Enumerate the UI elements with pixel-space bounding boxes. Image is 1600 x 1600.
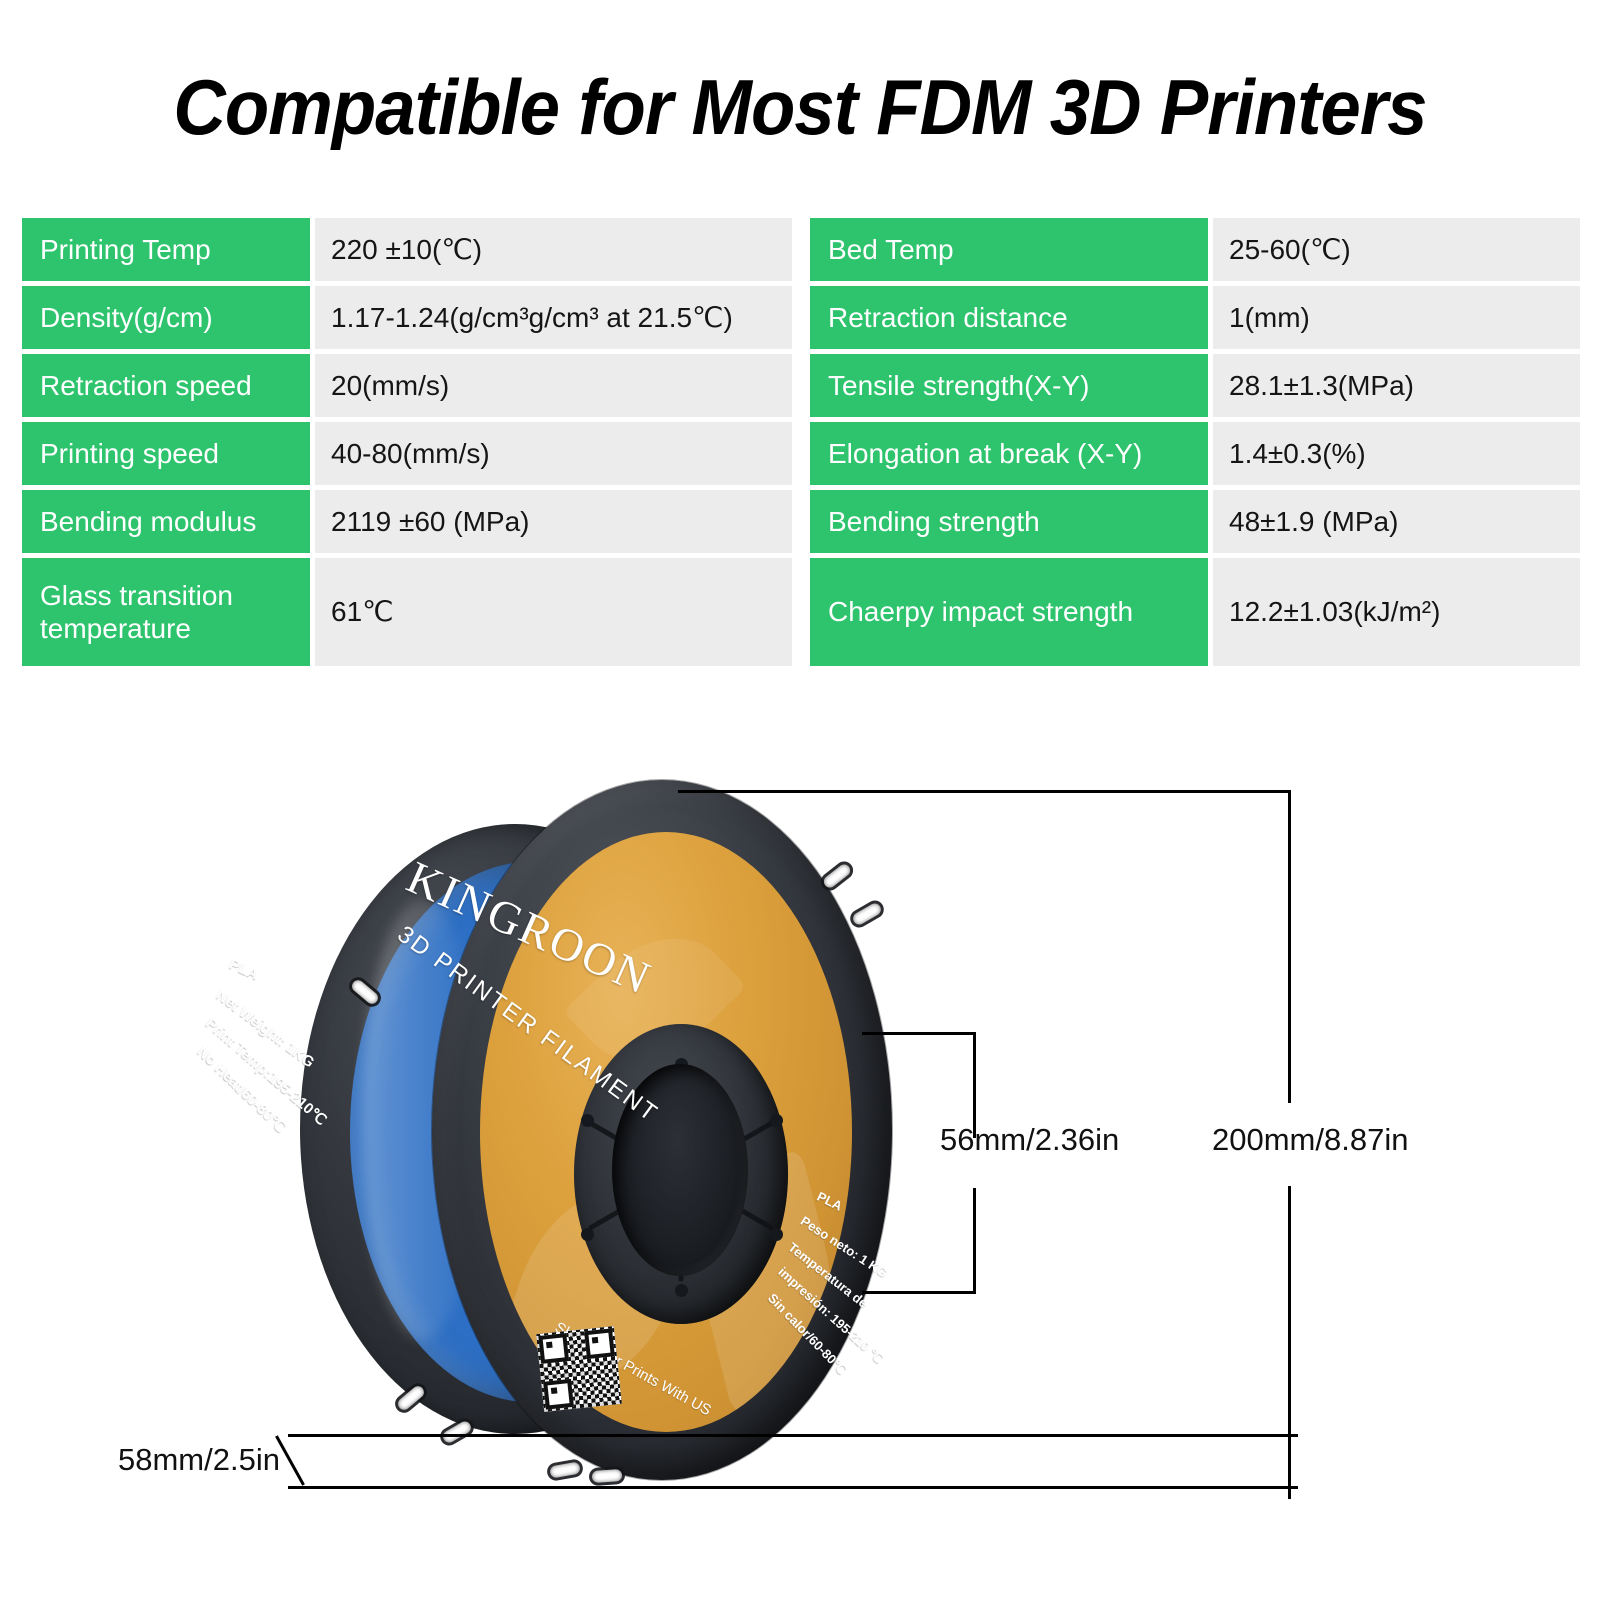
dimension-leader-width	[288, 1434, 1298, 1437]
spec-label: Elongation at break (X-Y)	[810, 422, 1208, 485]
spec-label: Bed Temp	[810, 218, 1208, 281]
label-material: PLA	[227, 956, 261, 984]
spec-value: 20(mm/s)	[315, 354, 792, 417]
hub-spoke-knob	[581, 1228, 594, 1241]
dimension-label-width: 58mm/2.5in	[118, 1442, 280, 1478]
rim-slot-icon	[821, 862, 852, 890]
table-row: Retraction distance 1(mm)	[810, 286, 1580, 349]
spec-value: 2119 ±60 (MPa)	[315, 490, 792, 553]
table-row: Retraction speed 20(mm/s)	[22, 354, 792, 417]
table-row: Printing Temp 220 ±10(℃)	[22, 218, 792, 281]
spec-value: 61℃	[315, 558, 792, 666]
qr-code	[536, 1326, 622, 1412]
spec-value: 25-60(℃)	[1213, 218, 1580, 281]
spec-value: 48±1.9 (MPa)	[1213, 490, 1580, 553]
spec-table-left: Printing Temp 220 ±10(℃) Density(g/cm) 1…	[22, 218, 792, 666]
dimension-label-inner-hole: 56mm/2.36in	[940, 1122, 1119, 1158]
table-row: Glass transition temperature 61℃	[22, 558, 792, 666]
spec-label: Bending strength	[810, 490, 1208, 553]
spec-label: Printing speed	[22, 422, 310, 485]
dimension-line-outer-diameter	[1288, 790, 1291, 1103]
dimension-line-inner-hole	[973, 1188, 976, 1294]
rim-slot-icon	[549, 1461, 581, 1478]
hub-spoke-knob	[770, 1228, 783, 1241]
spec-value: 28.1±1.3(MPa)	[1213, 354, 1580, 417]
spec-value: 12.2±1.03(kJ/m²)	[1213, 558, 1580, 666]
qr-eye-icon	[538, 1333, 569, 1364]
spec-label: Glass transition temperature	[22, 558, 310, 666]
table-row: Bending strength 48±1.9 (MPa)	[810, 490, 1580, 553]
hub-spoke-knob	[675, 1284, 688, 1297]
spec-table-right: Bed Temp 25-60(℃) Retraction distance 1(…	[810, 218, 1580, 666]
table-row: Density(g/cm) 1.17-1.24(g/cm³g/cm³ at 21…	[22, 286, 792, 349]
page-title: Compatible for Most FDM 3D Printers	[56, 62, 1544, 153]
dimension-line-outer-diameter	[1288, 1186, 1291, 1499]
spec-label: Bending modulus	[22, 490, 310, 553]
dimension-leader-inner-hole	[862, 1291, 976, 1294]
spec-label: Chaerpy impact strength	[810, 558, 1208, 666]
spec-label: Retraction distance	[810, 286, 1208, 349]
rim-slot-icon	[592, 1469, 623, 1483]
spec-value: 1(mm)	[1213, 286, 1580, 349]
spec-value: 1.17-1.24(g/cm³g/cm³ at 21.5℃)	[315, 286, 792, 349]
rim-slot-icon	[851, 901, 883, 926]
dimension-leader-top	[678, 790, 1290, 793]
qr-eye-icon	[543, 1379, 574, 1410]
table-row: Tensile strength(X-Y) 28.1±1.3(MPa)	[810, 354, 1580, 417]
dimension-leader-width	[288, 1486, 1298, 1489]
dimension-leader-inner-hole	[862, 1032, 976, 1035]
spec-label: Tensile strength(X-Y)	[810, 354, 1208, 417]
qr-eye-icon	[584, 1328, 615, 1359]
specification-tables: Printing Temp 220 ±10(℃) Density(g/cm) 1…	[22, 218, 1580, 666]
table-row: Printing speed 40-80(mm/s)	[22, 422, 792, 485]
rim-slot-icon	[441, 1419, 473, 1444]
dimension-label-outer-diameter: 200mm/8.87in	[1212, 1122, 1408, 1158]
spec-value: 1.4±0.3(%)	[1213, 422, 1580, 485]
product-photo: 200mm/8.87in 56mm/2.36in 58mm/2.5in KING…	[0, 740, 1600, 1560]
table-row: Chaerpy impact strength 12.2±1.03(kJ/m²)	[810, 558, 1580, 666]
hub-spoke-knob	[581, 1114, 594, 1127]
table-row: Elongation at break (X-Y) 1.4±0.3(%)	[810, 422, 1580, 485]
spec-value: 40-80(mm/s)	[315, 422, 792, 485]
spec-label: Retraction speed	[22, 354, 310, 417]
spec-label: Printing Temp	[22, 218, 310, 281]
hub-spoke-knob	[770, 1114, 783, 1127]
spec-label: Density(g/cm)	[22, 286, 310, 349]
table-row: Bed Temp 25-60(℃)	[810, 218, 1580, 281]
spec-value: 220 ±10(℃)	[315, 218, 792, 281]
table-row: Bending modulus 2119 ±60 (MPa)	[22, 490, 792, 553]
